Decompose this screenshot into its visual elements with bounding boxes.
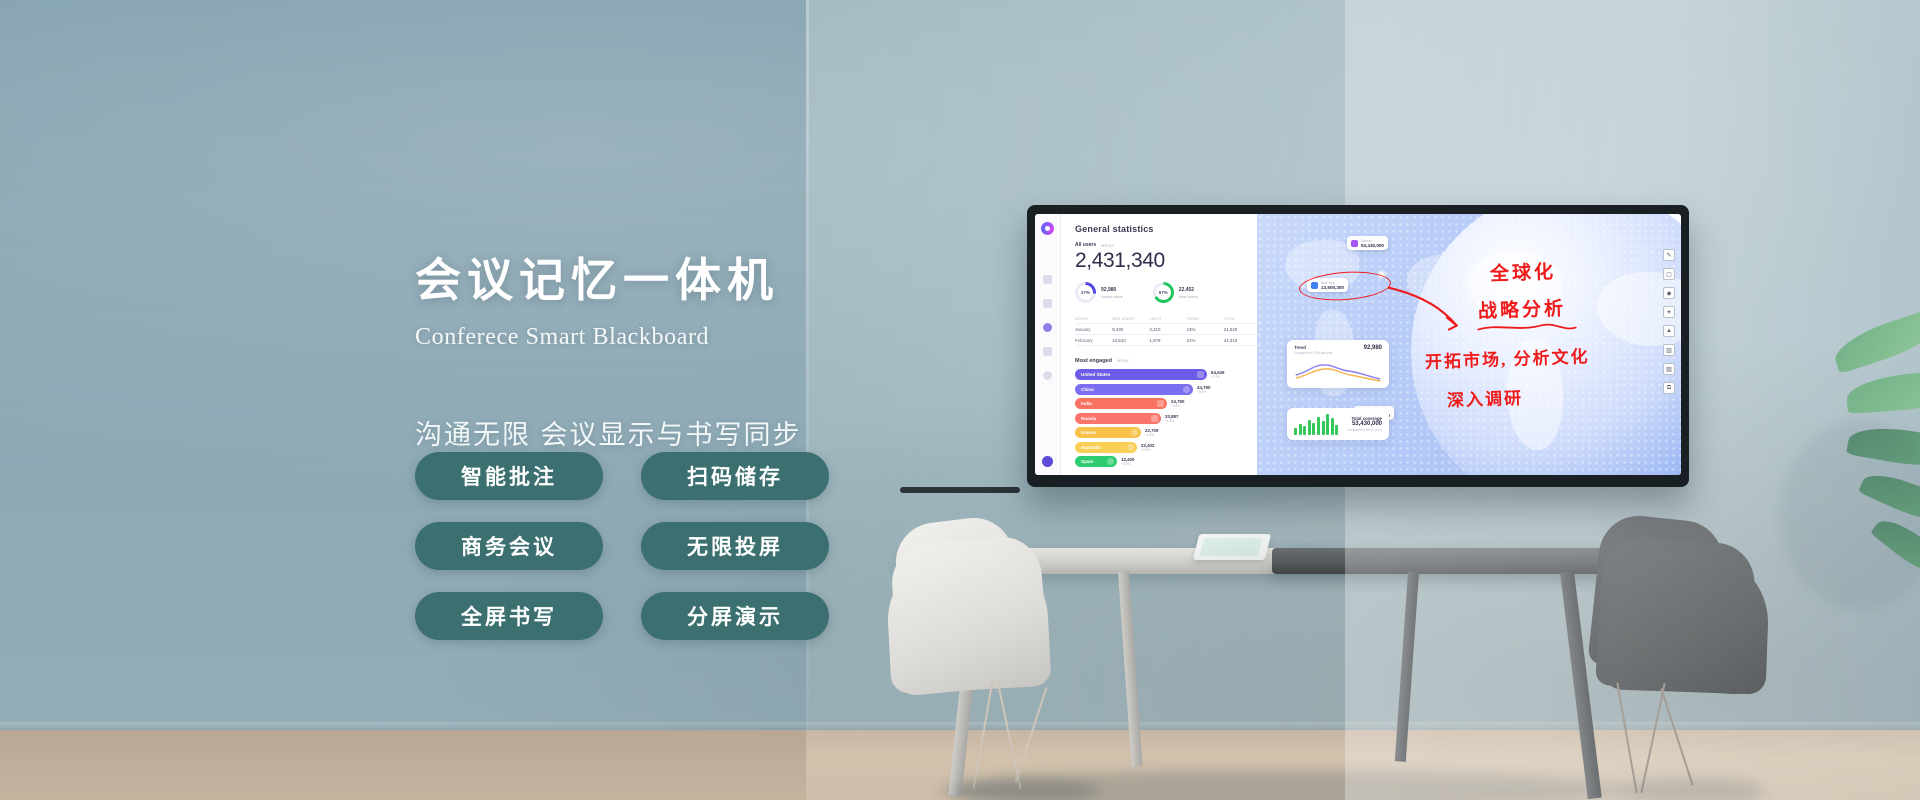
country-delta: +5.2% [1197,390,1210,394]
list-item[interactable]: China 44,790 +5.2% [1075,384,1275,395]
country-value: 33,887 [1165,414,1178,419]
list-item[interactable]: Spain 12,400 +0.5% [1075,456,1275,467]
feature-pill-group: 智能批注 扫码储存 商务会议 无限投屏 全屏书写 分屏演示 [415,452,855,662]
donut-value: 92,980 [1101,287,1123,293]
cell-trend: 21% [1187,335,1224,345]
avatar[interactable] [1042,456,1053,467]
cell-new-users: 12,543 [1112,335,1149,345]
country-name: China [1081,387,1094,392]
eraser-icon[interactable]: ▢ [1663,268,1675,280]
annotation-strategy-analysis: 战略分析 [1478,293,1567,323]
country-name: Russia [1081,416,1096,421]
coverage-card-subtitle: Compared to 8% in 2021 [1344,428,1382,432]
country-flag-icon [1131,429,1138,436]
app-logo-icon [1041,222,1054,235]
donut-value: 22,452 [1179,287,1198,293]
feature-pill-smart-annotation[interactable]: 智能批注 [415,452,603,500]
all-users-filter[interactable]: MTHLY [1101,243,1114,248]
pin-value: 53,430,000 [1361,243,1384,248]
cell-visits: 3,210 [1149,324,1186,334]
most-engaged-filter[interactable]: MTHLY [1117,359,1129,363]
plant-leaf [1845,370,1920,414]
all-users-row: All users MTHLY [1075,242,1275,248]
sidebar-archive-icon[interactable] [1043,347,1052,356]
page-subtitle: Conferece Smart Blackboard [415,324,975,351]
statistics-panel: General statistics All users MTHLY 2,431… [1075,224,1275,467]
sidebar-reports-icon[interactable] [1043,299,1052,308]
table-header-row: MONTH NEW USERS VISITS TREND TOTAL [1075,314,1261,323]
column-header: TREND [1187,314,1224,323]
cell-month: February [1075,335,1112,345]
annotation-globalization: 全球化 [1490,257,1557,286]
country-value: 44,790 [1197,385,1210,390]
trend-card[interactable]: Trend Compared to 12% last year 92,980 [1287,340,1389,388]
conference-table-top-dark [1272,548,1637,574]
cell-total: 44,310 [1224,335,1261,345]
donut-percent: 67% [1159,290,1168,295]
feature-pill-row: 商务会议 无限投屏 [415,522,855,570]
donut-label: New users [1179,294,1198,299]
trend-card-value: 92,980 [1364,345,1382,351]
column-header: NEW USERS [1112,314,1149,323]
plant-leaf [1829,308,1920,374]
country-flag-icon [1107,458,1114,465]
sidebar-settings-icon[interactable] [1043,371,1052,380]
feature-pill-fullscreen-write[interactable]: 全屏书写 [415,592,603,640]
cell-trend: 13% [1187,324,1224,334]
dashboard-sidebar [1035,214,1061,475]
donut-percent: 27% [1081,290,1090,295]
list-item[interactable]: India 24,790 +3.8% [1075,398,1275,409]
hero-scene: 会议记忆一体机 Conferece Smart Blackboard 沟通无限 … [0,0,1920,800]
country-name: India [1081,401,1092,406]
tablet-screen [1200,538,1262,556]
all-users-value: 2,431,340 [1075,249,1275,273]
chair-left-shadow [950,778,1100,800]
country-delta: +7.2% [1211,375,1224,379]
feature-pill-split-present[interactable]: 分屏演示 [641,592,829,640]
floor-shadowed [0,730,806,800]
cell-month: January [1075,324,1112,334]
country-flag-icon [1197,371,1204,378]
country-delta: +0.5% [1121,462,1134,466]
shapes-icon[interactable]: ◆ [1663,287,1675,299]
engaged-bar-list: United States 54,546 +7.2% China [1075,369,1275,467]
highlighter-icon[interactable]: ✦ [1663,306,1675,318]
sidebar-dashboard-icon[interactable] [1043,275,1052,284]
page-tagline: 沟通无限 会议显示与书写同步 [415,413,975,452]
feature-pill-business-meeting[interactable]: 商务会议 [415,522,603,570]
most-engaged-header: Most engaged MTHLY [1075,358,1275,364]
feature-pill-unlimited-cast[interactable]: 无限投屏 [641,522,829,570]
smart-blackboard-display: Toronto 53,430,000 New York 13,500,300 [1027,205,1689,487]
country-value: 22,402 [1141,443,1154,448]
all-users-label: All users [1075,242,1096,248]
country-flag-icon [1127,444,1134,451]
column-header: VISITS [1149,314,1186,323]
country-name: Spain [1081,459,1094,464]
list-item[interactable]: United States 54,546 +7.2% [1075,369,1275,380]
country-flag-icon [1183,386,1190,393]
trend-sparkline [1294,357,1382,383]
monthly-table: MONTH NEW USERS VISITS TREND TOTAL Janua… [1075,314,1261,346]
feature-pill-row: 智能批注 扫码储存 [415,452,855,500]
country-delta: +1.9% [1165,419,1178,423]
dashboard-heading: General statistics [1075,224,1275,234]
country-name: France [1081,430,1096,435]
donut-chart-active: 27% [1075,282,1096,303]
chair-left-main [884,546,1051,694]
country-delta: +0.9% [1141,448,1154,452]
map-pin-toronto[interactable]: Toronto 53,430,000 [1347,236,1388,250]
feature-pill-qr-storage[interactable]: 扫码储存 [641,452,829,500]
chair-right-shadow [1615,778,1765,800]
screenshot-icon[interactable]: ⧉ [1663,382,1675,394]
divider [1075,345,1261,346]
country-name: United States [1081,372,1110,377]
qr-code-icon[interactable]: ▨ [1663,363,1675,375]
trend-card-title: Trend [1294,345,1333,350]
country-flag-icon [1151,415,1158,422]
pin-swatch-icon [1351,240,1358,247]
coverage-card-value: 53,430,000 [1344,421,1382,427]
hero-copy: 会议记忆一体机 Conferece Smart Blackboard 沟通无限 … [415,255,975,452]
country-flag-icon [1157,400,1164,407]
donut-label: Active users [1101,294,1123,299]
page-title: 会议记忆一体机 [415,255,975,308]
donut-new-users: 67% 22,452 New users [1153,282,1198,303]
annotation-deep-research: 深入调研 [1447,384,1524,412]
donut-group: 27% 92,980 Active users 67% [1075,282,1275,303]
pen-icon[interactable]: ✎ [1663,249,1675,261]
donut-active-users: 27% 92,980 Active users [1075,282,1123,303]
list-item[interactable]: France 22,709 +1.4% [1075,427,1275,438]
board-toolbar: ✎ ▢ ◆ ✦ ▲ ▥ ▨ ⧉ [1663,249,1675,394]
country-name: Australia [1081,445,1101,450]
country-delta: +1.4% [1145,433,1158,437]
color-picker-icon[interactable]: ▲ [1663,325,1675,337]
column-header: MONTH [1075,314,1112,323]
table-row: January 8,430 3,210 13% 21,520 [1075,324,1261,334]
cell-total: 21,520 [1224,324,1261,334]
cell-visits: 1,879 [1149,335,1186,345]
list-item[interactable]: Australia 22,402 +0.9% [1075,442,1275,453]
trend-card-subtitle: Compared to 12% last year [1294,351,1333,355]
cell-new-users: 8,430 [1112,324,1149,334]
list-item[interactable]: Russia 33,887 +1.9% [1075,413,1275,424]
save-icon[interactable]: ▥ [1663,344,1675,356]
feature-pill-row: 全屏书写 分屏演示 [415,592,855,640]
coverage-bar-mini [1294,413,1338,435]
donut-chart-new: 67% [1153,282,1174,303]
sidebar-globe-icon[interactable] [1043,323,1052,332]
most-engaged-label: Most engaged [1075,358,1112,364]
total-coverage-card[interactable]: Total coverage 53,430,000 Compared to 8%… [1287,408,1389,440]
column-header: TOTAL [1224,314,1261,323]
country-delta: +3.8% [1171,404,1184,408]
table-row: February 12,543 1,879 21% 44,310 [1075,335,1261,345]
display-stand [900,487,1020,493]
